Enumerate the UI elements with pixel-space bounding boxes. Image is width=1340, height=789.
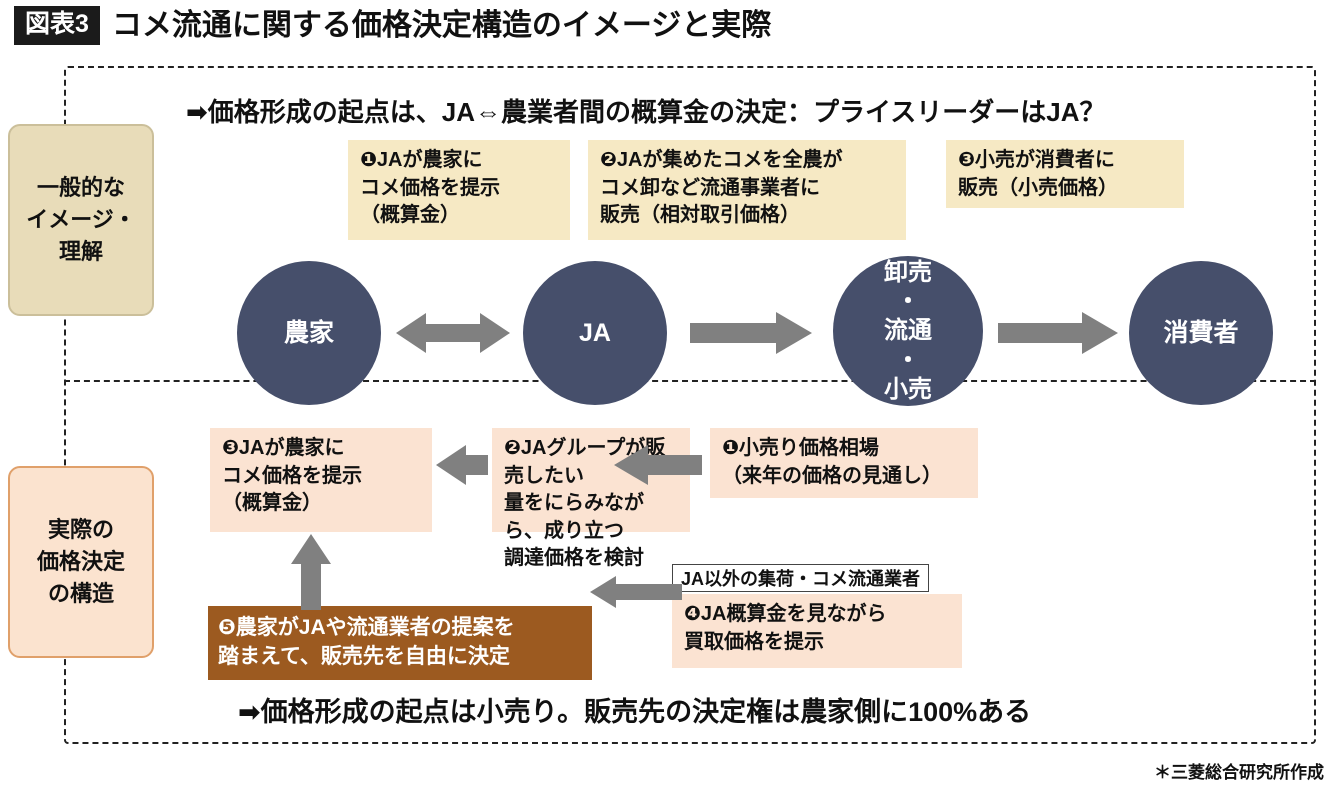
- note-lower-3: ❸JAが農家に コメ価格を提示 （概算金）: [210, 428, 432, 532]
- node-ja: JA: [523, 261, 667, 405]
- arrow-ja-group-to-farmer-price: [436, 445, 488, 485]
- headline-lower: ➡価格形成の起点は小売り。販売先の決定権は農家側に100%ある: [238, 690, 1031, 729]
- node-distribution: 卸売 ・ 流通 ・ 小売: [833, 256, 983, 406]
- note-lower-1: ❶小売り価格相場 （来年の価格の見通し）: [710, 428, 978, 498]
- section-divider: [64, 380, 1316, 382]
- headline-upper: ➡価格形成の起点は、JA⇔農業者間の概算金の決定：プライスリーダーはJA？: [186, 92, 1105, 129]
- section-label-upper: 一般的な イメージ・ 理解: [8, 124, 154, 316]
- note-upper-3: ❸小売が消費者に 販売（小売価格）: [946, 140, 1184, 208]
- node-farmer: 農家: [237, 261, 381, 405]
- arrow-farmer-decision-up: [290, 534, 332, 610]
- arrow-other-buyers-to-farmer: [590, 574, 682, 610]
- title-text: コメ流通に関する価格決定構造のイメージと実際: [112, 11, 771, 41]
- note-lower-4-caption: JA以外の集荷・コメ流通業者: [672, 564, 929, 592]
- note-lower-4: ❹JA概算金を見ながら 買取価格を提示: [672, 594, 962, 668]
- note-lower-5: ❺農家がJAや流通業者の提案を 踏まえて、販売先を自由に決定: [208, 606, 592, 680]
- arrow-double-farmer-ja: [396, 310, 510, 356]
- arrow-distribution-consumer: [998, 312, 1118, 354]
- source-note: ＊三菱総合研究所作成: [1154, 758, 1324, 783]
- figure-badge: 図表3: [14, 6, 100, 45]
- node-consumer: 消費者: [1129, 261, 1273, 405]
- arrow-retail-to-ja-group: [614, 445, 702, 485]
- note-upper-1: ❶JAが農家に コメ価格を提示 （概算金）: [348, 140, 570, 240]
- section-label-lower: 実際の 価格決定 の構造: [8, 466, 154, 658]
- note-upper-2: ❷JAが集めたコメを全農が コメ卸など流通事業者に 販売（相対取引価格）: [588, 140, 906, 240]
- page-title: 図表3 コメ流通に関する価格決定構造のイメージと実際: [14, 6, 771, 45]
- arrow-ja-distribution: [690, 312, 812, 354]
